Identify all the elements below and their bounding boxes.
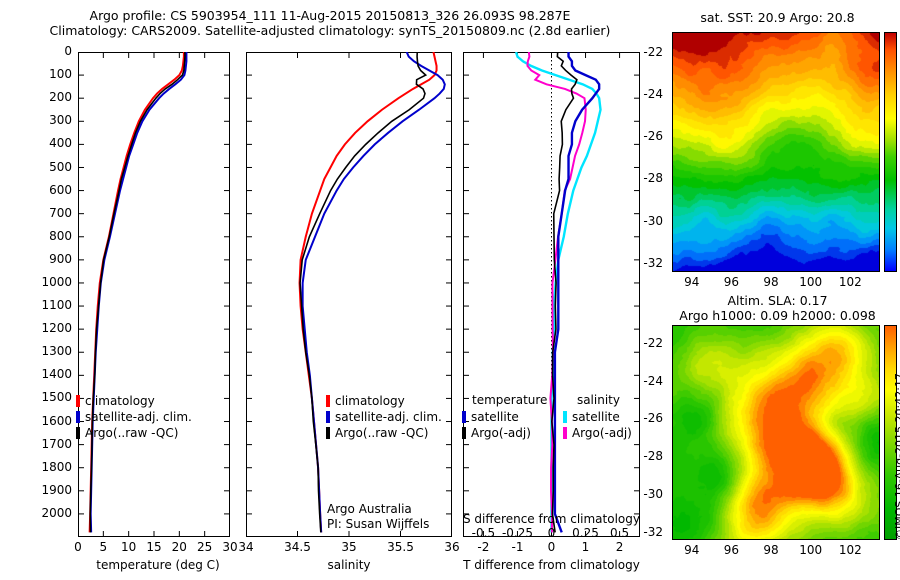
sla-map-ytick-label: -28 [630,449,663,463]
salinity-legend-entry: climatology [326,392,442,408]
sst-map-xtick-label: 94 [676,275,708,289]
temperature-legend-swatch-icon [76,395,80,407]
temperature-ytick-label: 900 [0,252,72,266]
temperature-profile-curves [78,52,230,537]
temperature-xtick-label: 25 [191,540,219,554]
sst-map-xtick-label: 98 [755,275,787,289]
sst-map-xtick-label: 102 [834,275,866,289]
temperature-legend-entry: Argo(..raw -QC) [76,424,192,440]
difference-ttick-label: -2 [469,540,497,554]
temperature-legend-swatch-icon [76,411,80,423]
salinity-legend-label: climatology [335,394,405,408]
sla-map-ytick-label: -22 [630,336,663,350]
sst-map-ytick-label: -32 [630,256,663,270]
sst-colorbar [884,32,897,272]
difference-profile-curves [463,52,640,537]
sst-map-xtick-label: 96 [715,275,747,289]
difference-legend-temperature-label: satellite [471,410,519,424]
attribution-line-1: Argo Australia [327,502,412,516]
difference-legend-temperature-entry: Argo(-adj) [462,424,549,440]
salinity-legend-entry: Argo(..raw -QC) [326,424,442,440]
difference-saxis-ticklabels: -0.5-0.2500.250.5 [455,526,648,541]
difference-legend-salinity-swatch-icon [563,427,567,439]
temperature-legend-label: climatology [85,394,155,408]
salinity-legend-entry: satellite-adj. clim. [326,408,442,424]
temperature-legend: climatology satellite-adj. clim. Argo(..… [76,392,192,440]
temperature-xtick-label: 5 [89,540,117,554]
difference-saxis-label: S difference from climatology [455,512,648,526]
difference-ttick-label: 2 [606,540,634,554]
temperature-ytick-label: 200 [0,90,72,104]
sst-map-ytick-label: -24 [630,87,663,101]
temperature-ytick-label: 0 [0,44,72,58]
imos-credit: ©IMOS 16-Aug-2015 20:42:17 [893,373,900,540]
sst-map-ytick-label: -30 [630,214,663,228]
sst-map-title: sat. SST: 20.9 Argo: 20.8 [655,10,900,25]
temperature-legend-entry: satellite-adj. clim. [76,408,192,424]
sla-map-xtick-label: 96 [715,543,747,557]
temperature-xtick-label: 15 [140,540,168,554]
sst-map-xtick-label: 100 [795,275,827,289]
sla-map-xtick-label: 94 [676,543,708,557]
sla-map-xtick-label: 102 [834,543,866,557]
difference-legend-temperature-label: Argo(-adj) [471,426,531,440]
temperature-ytick-label: 2000 [0,506,72,520]
temperature-ytick-label: 100 [0,67,72,81]
salinity-xtick-label: 34.5 [278,540,318,554]
sla-map-ytick-label: -30 [630,487,663,501]
difference-legend-temperature-swatch-icon [462,427,466,439]
temperature-ytick-label: 1100 [0,298,72,312]
temperature-ytick-label: 600 [0,183,72,197]
sst-map-image [673,33,880,272]
temperature-ytick-label: 500 [0,160,72,174]
temperature-ytick-label: 1600 [0,414,72,428]
sla-map-yticklabels: -22-24-26-28-30-32 [630,325,668,540]
temperature-xaxis-label: temperature (deg C) [58,558,258,572]
salinity-profile-curves [246,52,452,537]
temperature-ytick-label: 1800 [0,460,72,474]
temperature-xtick-label: 10 [115,540,143,554]
temperature-xtick-label: 0 [64,540,92,554]
difference-ttick-label: -1 [504,540,532,554]
sst-map-ytick-label: -26 [630,129,663,143]
temperature-legend-label: satellite-adj. clim. [85,410,192,424]
temperature-ytick-label: 1300 [0,344,72,358]
salinity-xtick-label: 34 [226,540,266,554]
difference-legend-temperature-entry: satellite [462,408,549,424]
sst-map-yticklabels: -22-24-26-28-30-32 [630,32,668,272]
salinity-legend: climatology satellite-adj. clim. Argo(..… [326,392,442,440]
sla-map-xticklabels: 949698100102 [672,543,880,559]
difference-legend-salinity-swatch-icon [563,411,567,423]
difference-legend-salinity-label: Argo(-adj) [572,426,632,440]
sst-map-ytick-label: -28 [630,171,663,185]
temperature-xaxis-ticklabels: 051015202530 [78,540,230,556]
sla-map-image [673,326,880,540]
difference-ttick-label: 1 [572,540,600,554]
header-line-1: Argo profile: CS 5903954_111 11-Aug-2015… [0,8,660,23]
salinity-xaxis-ticklabels: 3434.53535.536 [246,540,452,556]
sst-map-xticklabels: 949698100102 [672,275,880,291]
sla-map-xtick-label: 100 [795,543,827,557]
temperature-legend-entry: climatology [76,392,192,408]
difference-legend-heading-temperature: temperature [462,392,549,408]
temperature-ytick-label: 700 [0,206,72,220]
difference-legend-salinity-label: satellite [572,410,620,424]
difference-legend-temperature-swatch-icon [462,411,466,423]
difference-ttick-label: 0 [538,540,566,554]
temperature-ytick-label: 1500 [0,390,72,404]
salinity-xtick-label: 35 [329,540,369,554]
temperature-ytick-label: 1400 [0,367,72,381]
salinity-legend-label: satellite-adj. clim. [335,410,442,424]
salinity-legend-swatch-icon [326,427,330,439]
temperature-ytick-label: 1700 [0,437,72,451]
attribution-line-2: PI: Susan Wijffels [327,517,429,531]
salinity-xaxis-label: salinity [279,558,419,572]
difference-taxis-label: T difference from climatology [455,558,648,572]
sst-map-frame [672,32,880,272]
difference-legend: temperature satellite Argo(-adj) salinit… [462,392,642,440]
temperature-ytick-label: 1200 [0,321,72,335]
sla-map-ytick-label: -26 [630,411,663,425]
temperature-ytick-label: 300 [0,113,72,127]
salinity-legend-swatch-icon [326,411,330,423]
sla-map-xtick-label: 98 [755,543,787,557]
temperature-ytick-label: 800 [0,229,72,243]
temperature-ytick-label: 400 [0,136,72,150]
sla-map-title-line-1: Altim. SLA: 0.17 [655,293,900,308]
sla-map-ytick-label: -32 [630,525,663,539]
difference-taxis-ticklabels: -2-1012 [463,540,640,556]
temperature-legend-swatch-icon [76,427,80,439]
salinity-legend-swatch-icon [326,395,330,407]
header-line-2: Climatology: CARS2009. Satellite-adjuste… [0,23,660,38]
temperature-ytick-label: 1000 [0,275,72,289]
sla-map-ytick-label: -24 [630,374,663,388]
temperature-ytick-label: 1900 [0,483,72,497]
sst-map-ytick-label: -22 [630,45,663,59]
salinity-legend-label: Argo(..raw -QC) [335,426,428,440]
temperature-xtick-label: 20 [165,540,193,554]
sla-map-frame [672,325,880,540]
temperature-legend-label: Argo(..raw -QC) [85,426,178,440]
salinity-xtick-label: 35.5 [381,540,421,554]
sla-map-title-line-2: Argo h1000: 0.09 h2000: 0.098 [645,308,900,323]
